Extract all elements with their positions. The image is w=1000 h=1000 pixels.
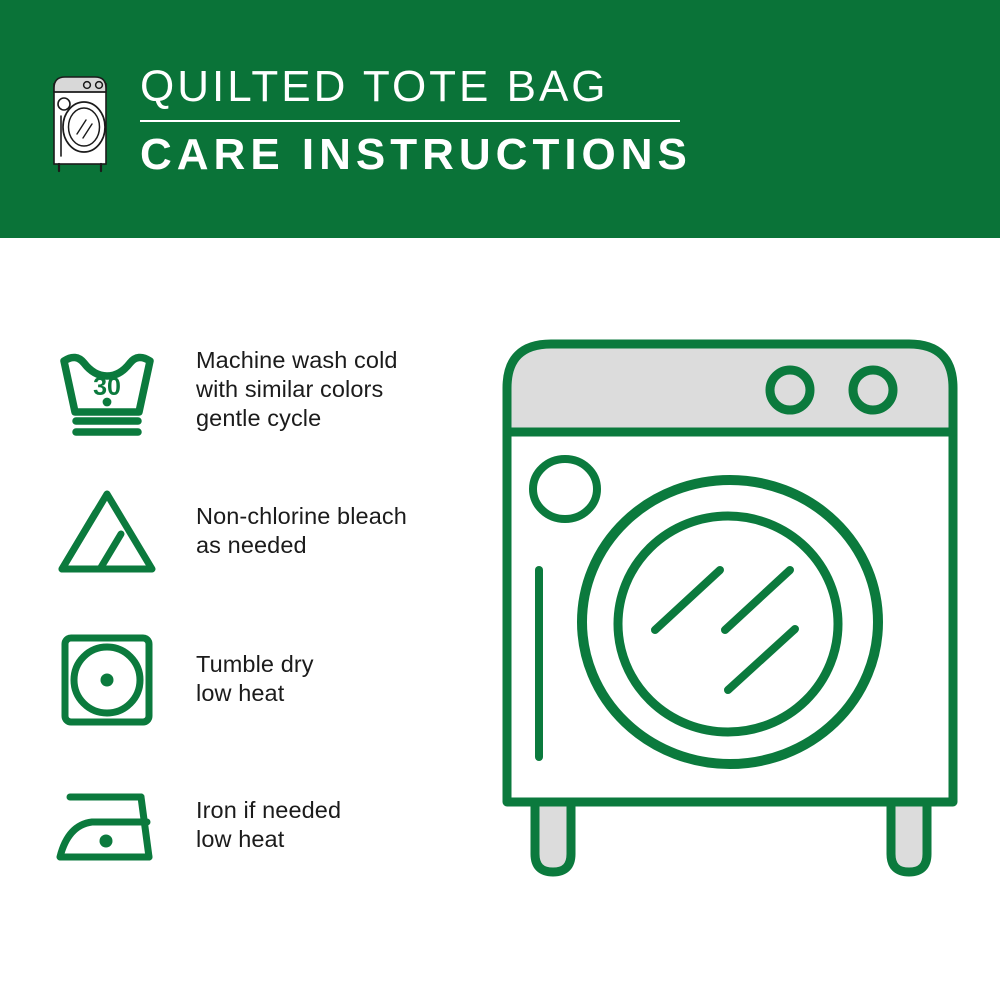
iron-low-heat-icon <box>48 766 166 884</box>
page-title: QUILTED TOTE BAG <box>140 60 609 114</box>
page-subtitle: CARE INSTRUCTIONS <box>140 128 692 182</box>
care-text-line: with similar colors <box>196 375 488 404</box>
care-text-line: gentle cycle <box>196 404 488 433</box>
control-knob-left <box>770 370 810 410</box>
care-text-line: Non-chlorine bleach <box>196 502 488 531</box>
washing-machine-icon <box>40 64 118 176</box>
header-band: QUILTED TOTE BAG CARE INSTRUCTIONS <box>0 0 1000 238</box>
care-item-text-machine-wash: Machine wash cold with similar colors ge… <box>166 330 488 448</box>
wash-temperature-label: 30 <box>93 373 121 401</box>
care-text-line: Machine wash cold <box>196 346 488 375</box>
care-text-line: low heat <box>196 679 488 708</box>
care-item-iron: Iron if needed low heat <box>48 766 488 884</box>
care-text-line: as needed <box>196 531 488 560</box>
care-instructions-page: QUILTED TOTE BAG CARE INSTRUCTIONS <box>0 0 1000 1000</box>
care-text-line: low heat <box>196 825 488 854</box>
care-item-bleach: Non-chlorine bleach as needed <box>48 472 488 590</box>
control-knob-right <box>853 370 893 410</box>
foot-right <box>891 802 927 872</box>
care-item-text-bleach: Non-chlorine bleach as needed <box>166 472 488 590</box>
care-text-line: Iron if needed <box>196 796 488 825</box>
detergent-dispenser-circle <box>533 459 597 519</box>
front-load-washing-machine-illustration <box>495 332 965 927</box>
foot-left <box>535 802 571 872</box>
care-item-tumble-dry: Tumble dry low heat <box>48 620 488 738</box>
title-divider <box>140 120 680 122</box>
care-item-machine-wash: 30 Machine wash cold with similar colors… <box>48 330 488 448</box>
care-item-text-tumble-dry: Tumble dry low heat <box>166 620 488 738</box>
non-chlorine-bleach-triangle-icon <box>48 472 166 590</box>
care-item-text-iron: Iron if needed low heat <box>166 766 488 884</box>
header-title-block: QUILTED TOTE BAG CARE INSTRUCTIONS <box>140 60 692 182</box>
header-content: QUILTED TOTE BAG CARE INSTRUCTIONS <box>40 60 692 182</box>
care-instructions-list: 30 Machine wash cold with similar colors… <box>48 330 488 884</box>
wash-tub-30-gentle-icon: 30 <box>48 330 166 448</box>
care-text-line: Tumble dry <box>196 650 488 679</box>
tumble-dry-low-heat-icon <box>48 620 166 738</box>
